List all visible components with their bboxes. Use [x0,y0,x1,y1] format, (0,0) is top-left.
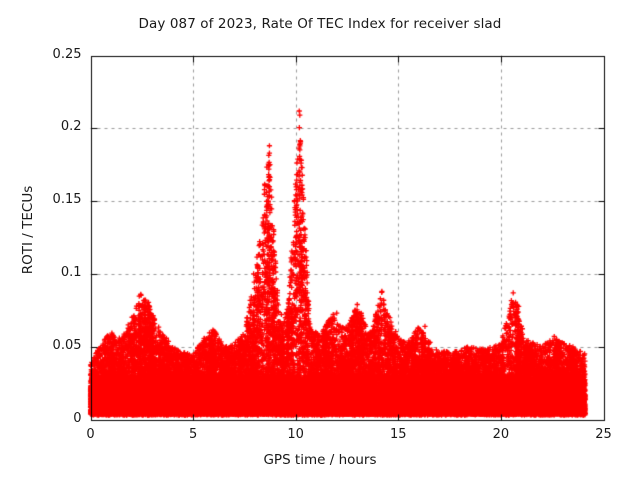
x-tick-label: 5 [163,427,223,442]
x-tick-label: 25 [574,427,634,442]
y-tick-label: 0.15 [53,192,82,207]
chart-figure: Day 087 of 2023, Rate Of TEC Index for r… [0,0,640,480]
y-axis-label: ROTI / TECUs [20,150,36,310]
x-tick-label: 0 [61,427,121,442]
y-tick-label: 0.1 [61,265,82,280]
x-tick-label: 20 [471,427,531,442]
y-tick-label: 0 [73,411,81,426]
y-tick-label: 0.2 [61,119,82,134]
x-axis-label: GPS time / hours [0,452,640,468]
y-tick-label: 0.05 [53,338,82,353]
x-tick-label: 10 [266,427,326,442]
scatter-plot-canvas [0,0,640,480]
x-tick-label: 15 [368,427,428,442]
y-tick-label: 0.25 [53,47,82,62]
